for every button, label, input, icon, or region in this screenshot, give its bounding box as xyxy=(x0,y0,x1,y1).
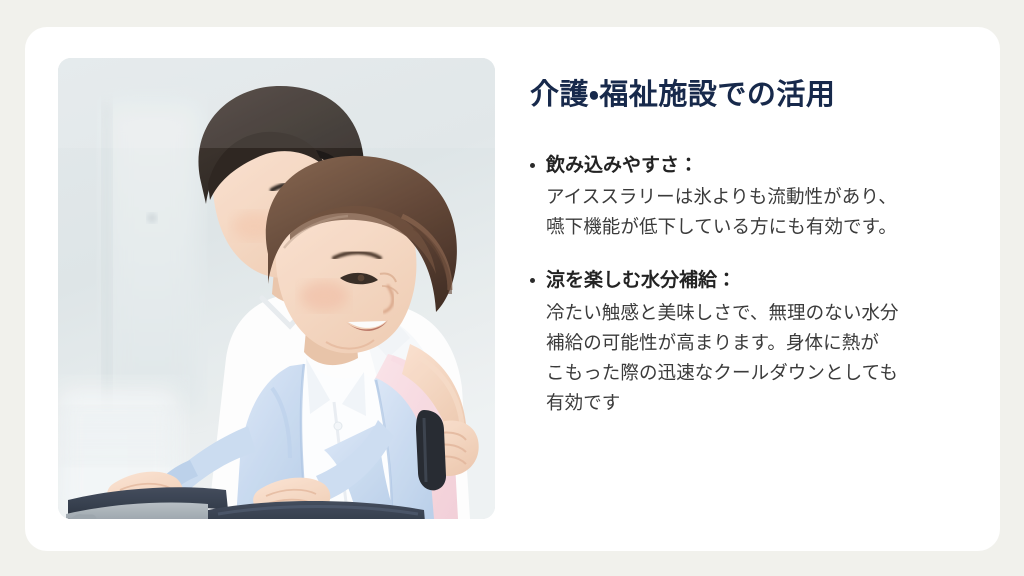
bullet-label: 飲み込みやすさ： xyxy=(546,153,698,179)
bullet-body-line: 冷たい触感と美味しさで、無理のない水分 xyxy=(546,298,975,328)
bullet-body-line: 有効です xyxy=(546,388,975,418)
bullet-body: 冷たい触感と美味しさで、無理のない水分 補給の可能性が高まります。身体に熱が こ… xyxy=(546,298,975,418)
page-title: 介護・福祉施設での活用 xyxy=(530,77,975,115)
slide-root: 介護・福祉施設での活用 飲み込みやすさ： アイススラリーは氷よりも流動性があり、… xyxy=(0,0,1024,576)
caregiver-photo-illustration xyxy=(58,58,495,519)
bullet-item-swallowing: 飲み込みやすさ： アイススラリーは氷よりも流動性があり、 嚥下機能が低下している… xyxy=(530,153,975,243)
bullet-body-line: 補給の可能性が高まります。身体に熱が xyxy=(546,328,975,358)
bullet-dot-icon xyxy=(530,278,535,283)
bullet-dot-icon xyxy=(530,163,535,168)
bullet-label: 涼を楽しむ水分補給： xyxy=(546,268,736,294)
bullet-item-hydration: 涼を楽しむ水分補給： 冷たい触感と美味しさで、無理のない水分 補給の可能性が高ま… xyxy=(530,268,975,418)
caregiver-photo xyxy=(58,58,495,519)
bullet-body: アイススラリーは氷よりも流動性があり、 嚥下機能が低下している方にも有効です。 xyxy=(546,182,975,242)
bullet-body-line: 嚥下機能が低下している方にも有効です。 xyxy=(546,212,975,242)
text-column: 介護・福祉施設での活用 飲み込みやすさ： アイススラリーは氷よりも流動性があり、… xyxy=(530,77,975,418)
bullet-heading-row: 涼を楽しむ水分補給： xyxy=(530,268,975,294)
bullet-body-line: アイススラリーは氷よりも流動性があり、 xyxy=(546,182,975,212)
bullet-heading-row: 飲み込みやすさ： xyxy=(530,153,975,179)
bullet-body-line: こもった際の迅速なクールダウンとしても xyxy=(546,358,975,388)
content-card: 介護・福祉施設での活用 飲み込みやすさ： アイススラリーは氷よりも流動性があり、… xyxy=(25,27,1000,551)
